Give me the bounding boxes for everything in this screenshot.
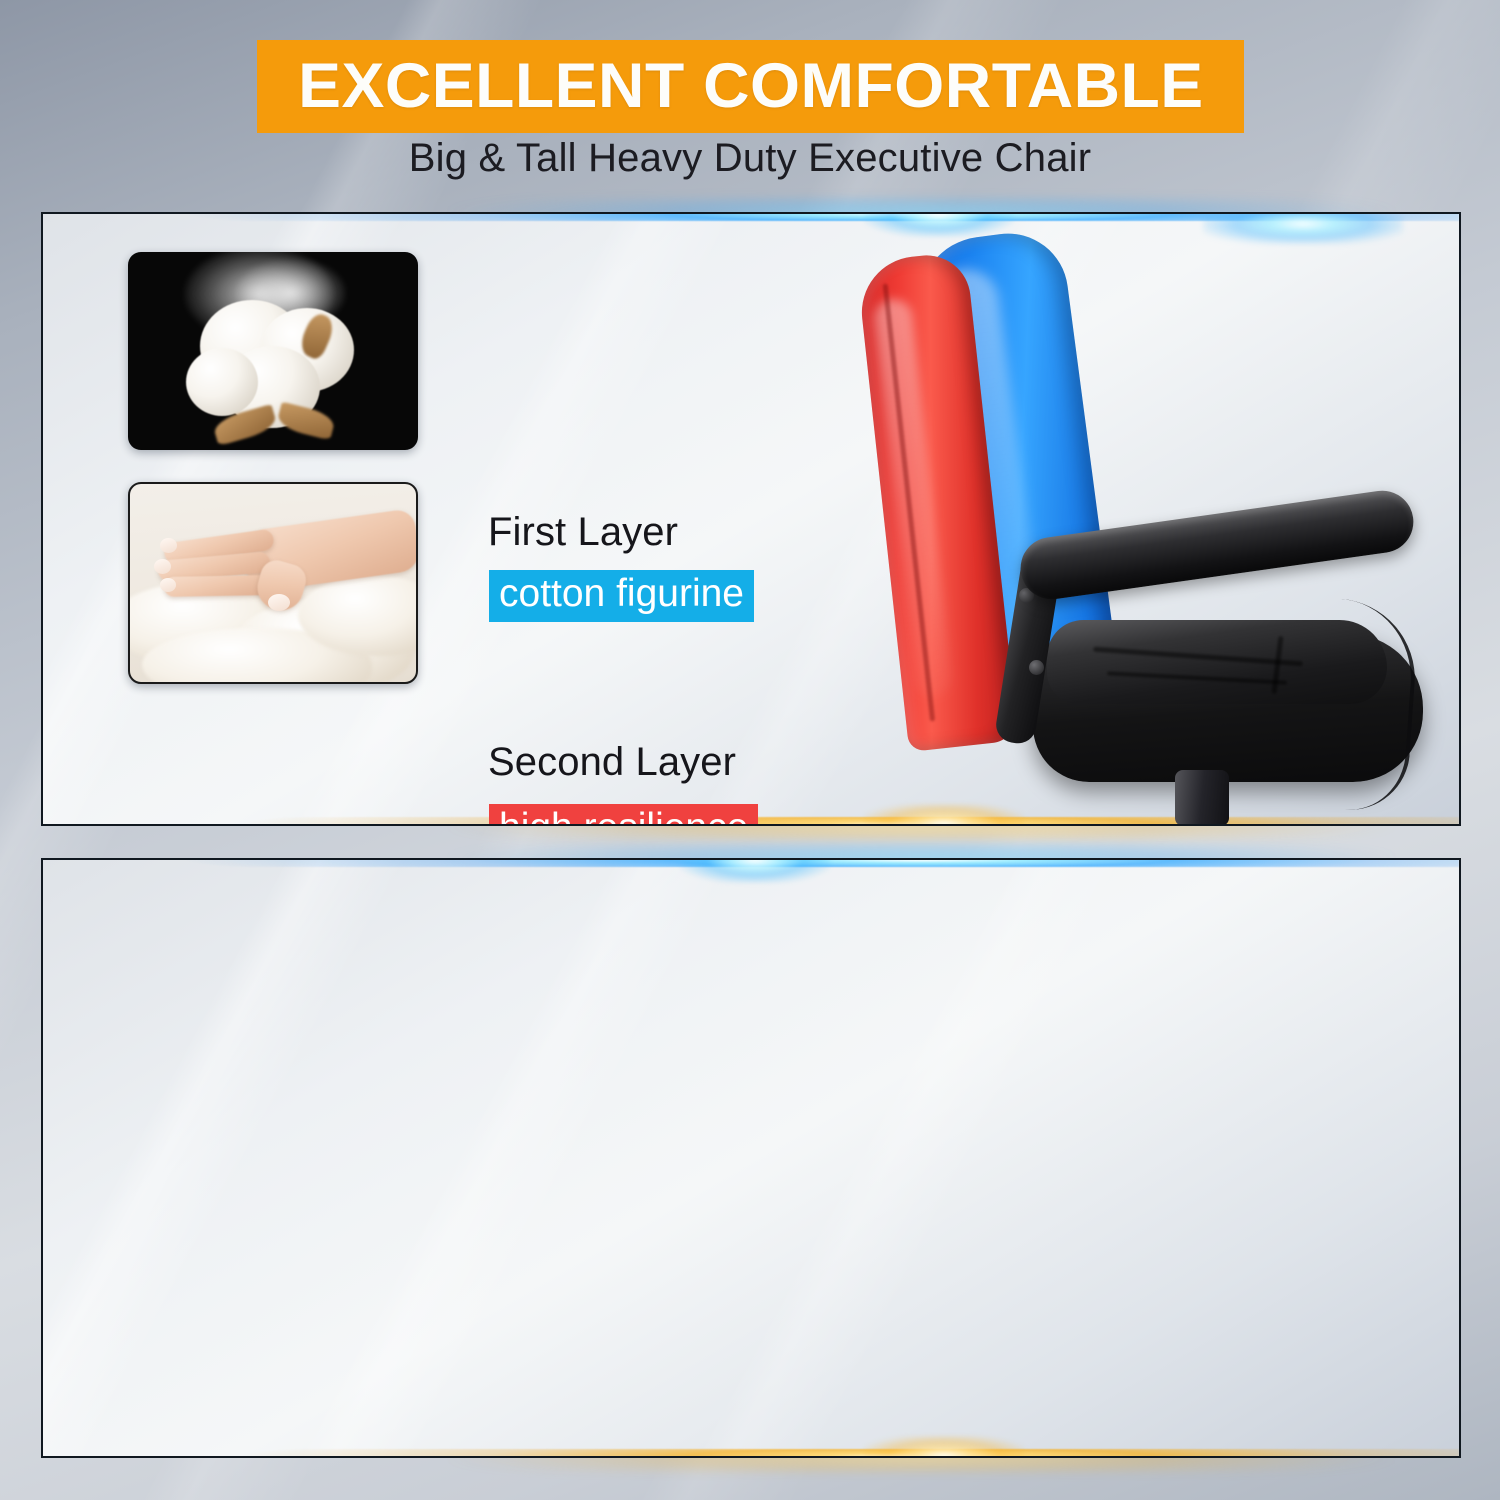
second-layer-title: Second Layer bbox=[488, 740, 736, 785]
chair-lens-flare-icon bbox=[1203, 214, 1403, 244]
cotton-boll-photo bbox=[128, 252, 418, 450]
page-title: EXCELLENT COMFORTABLE bbox=[298, 55, 1204, 118]
header: EXCELLENT COMFORTABLE Big & Tall Heavy D… bbox=[0, 0, 1500, 196]
armrest-bolt-icon bbox=[1029, 660, 1044, 675]
title-banner: EXCELLENT COMFORTABLE bbox=[257, 40, 1244, 133]
chair-gas-lift-stem bbox=[1175, 770, 1229, 824]
first-layer-highlight: cotton figurine bbox=[489, 570, 754, 622]
first-layer-title: First Layer bbox=[488, 510, 678, 555]
chair-cable bbox=[1286, 596, 1420, 814]
second-layer-highlight: high resilience bbox=[489, 804, 758, 826]
page-subtitle: Big & Tall Heavy Duty Executive Chair bbox=[0, 136, 1500, 181]
cushion-panel: COMFORTABLE CUSHION PU leather High resi… bbox=[41, 858, 1461, 1458]
backrest-panel: First Layer cotton figurine Second Layer… bbox=[41, 212, 1461, 826]
executive-chair-side-profile bbox=[823, 214, 1461, 824]
cushion-panel-background bbox=[43, 860, 1459, 1456]
memory-foam-hand-photo bbox=[128, 482, 418, 684]
